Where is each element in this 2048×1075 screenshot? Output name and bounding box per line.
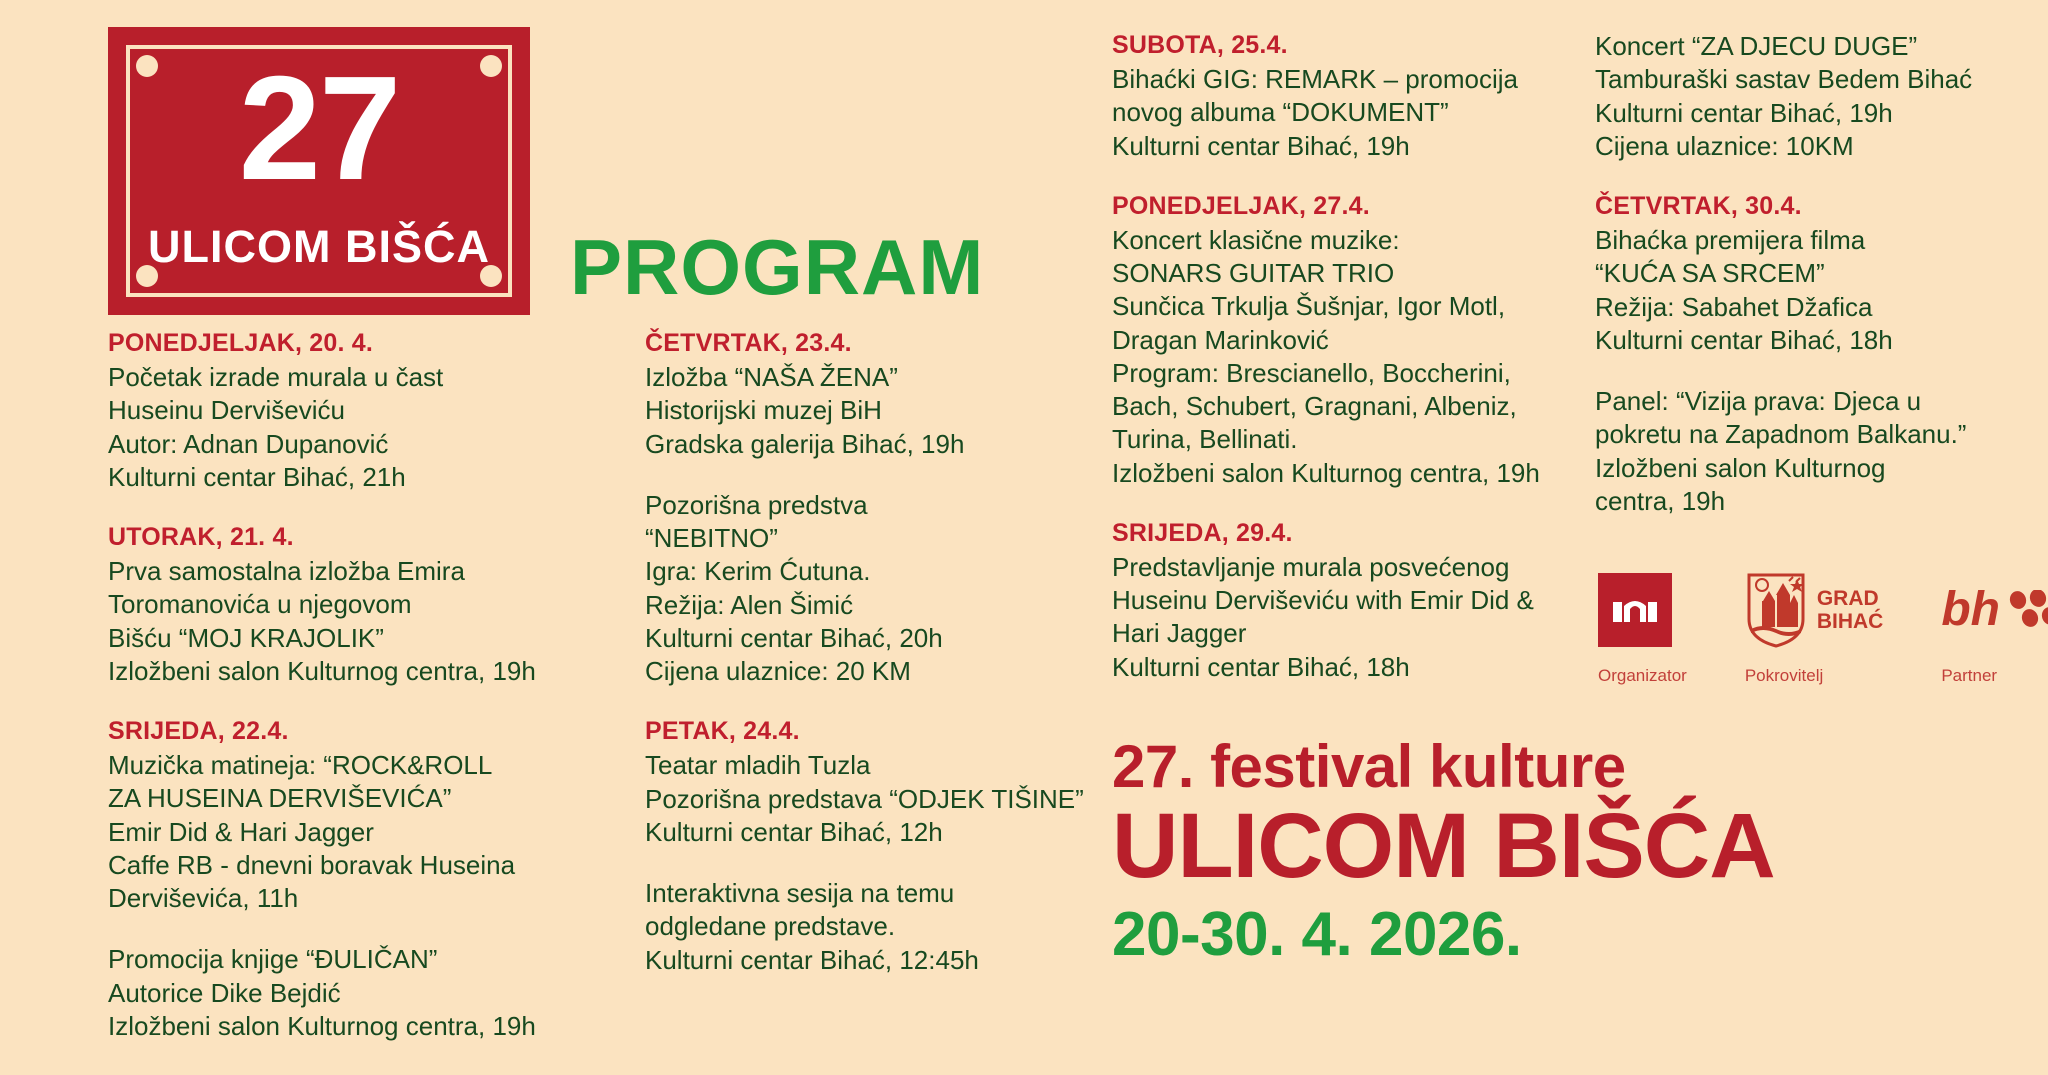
event-line: pokretu na Zapadnom Balkanu.” — [1595, 418, 2025, 451]
event-line: Izložbeni salon Kulturnog — [1595, 452, 2025, 485]
building-icon — [1613, 598, 1657, 622]
event-line: Režija: Alen Šimić — [645, 589, 1105, 622]
event-line: Panel: “Vizija prava: Djeca u — [1595, 385, 2025, 418]
logo-caption-pokrovitelj: Pokrovitelj — [1745, 666, 1823, 686]
program-event: SUBOTA, 25.4.Bihaćki GIG: REMARK – promo… — [1112, 30, 1562, 163]
event-line: Huseinu Derviševiću with Emir Did & — [1112, 584, 1562, 617]
event-line: Pozorišna predstva — [645, 489, 1105, 522]
event-line: Izložba “NAŠA ŽENA” — [645, 361, 1105, 394]
event-line: Autor: Adnan Dupanović — [108, 428, 578, 461]
event-line: Prva samostalna izložba Emira — [108, 555, 578, 588]
event-line: novog albuma “DOKUMENT” — [1112, 96, 1562, 129]
event-line: Muzička matineja: “ROCK&ROLL — [108, 749, 578, 782]
kulturni-centar-icon — [1598, 568, 1672, 652]
festival-title-line1: 27. festival kulture — [1112, 735, 1775, 798]
program-event: ČETVRTAK, 23.4.Izložba “NAŠA ŽENA”Histor… — [645, 328, 1105, 461]
event-line: Toromanovića u njegovom — [108, 588, 578, 621]
event-line: Igra: Kerim Ćutuna. — [645, 555, 1105, 588]
event-line: Turina, Bellinati. — [1112, 423, 1562, 456]
event-line: Kulturni centar Bihać, 20h — [645, 622, 1105, 655]
event-date: SRIJEDA, 22.4. — [108, 716, 578, 746]
event-line: Cijena ulaznice: 20 KM — [645, 655, 1105, 688]
event-date: UTORAK, 21. 4. — [108, 522, 578, 552]
event-line: Izložbeni salon Kulturnog centra, 19h — [1112, 457, 1562, 490]
event-line: Izložbeni salon Kulturnog centra, 19h — [108, 1010, 578, 1043]
event-date: ČETVRTAK, 30.4. — [1595, 191, 2025, 221]
event-line: Kulturni centar Bihać, 19h — [1112, 130, 1562, 163]
event-line: Derviševića, 11h — [108, 882, 578, 915]
program-column-2: ČETVRTAK, 23.4.Izložba “NAŠA ŽENA”Histor… — [645, 328, 1105, 977]
event-line: Kulturni centar Bihać, 12h — [645, 816, 1105, 849]
plaque-number: 27 — [108, 55, 530, 203]
festival-title-line2: ULICOM BIŠĆA — [1112, 798, 1775, 895]
event-line: Kulturni centar Bihać, 18h — [1595, 324, 2025, 357]
program-event: Koncert “ZA DJECU DUGE”Tamburaški sastav… — [1595, 30, 2025, 163]
event-line: Početak izrade murala u čast — [108, 361, 578, 394]
bh-wordmark: bh — [1941, 586, 2000, 634]
event-line: Program: Brescianello, Boccherini, — [1112, 357, 1562, 390]
event-line: Bišću “MOJ KRAJOLIK” — [108, 622, 578, 655]
event-line: Koncert “ZA DJECU DUGE” — [1595, 30, 2025, 63]
event-line: Kulturni centar Bihać, 12:45h — [645, 944, 1105, 977]
event-line: Bihaćki GIG: REMARK – promocija — [1112, 63, 1562, 96]
event-line: SONARS GUITAR TRIO — [1112, 257, 1562, 290]
grad-bihac-icon: GRAD BIHAĆ — [1745, 568, 1884, 652]
logo-grad-bihac: GRAD BIHAĆ Pokrovitelj — [1745, 568, 1884, 686]
festival-poster: 27 ULICOM BIŠĆA PROGRAM PONEDJELJAK, 20.… — [0, 0, 2048, 1075]
bh-dots-icon — [2008, 590, 2048, 630]
logo-bh-telecom: bh Partner — [1941, 568, 2048, 686]
event-line: Kulturni centar Bihać, 19h — [1595, 97, 2025, 130]
event-line: Sunčica Trkulja Šušnjar, Igor Motl, — [1112, 290, 1562, 323]
sponsor-logos: Organizator — [1598, 568, 2048, 686]
program-column-1: PONEDJELJAK, 20. 4.Početak izrade murala… — [108, 328, 578, 1043]
event-line: Izložbeni salon Kulturnog centra, 19h — [108, 655, 578, 688]
event-line: “KUĆA SA SRCEM” — [1595, 257, 2025, 290]
event-line: Hari Jagger — [1112, 617, 1562, 650]
event-line: centra, 19h — [1595, 485, 2025, 518]
program-event: UTORAK, 21. 4.Prva samostalna izložba Em… — [108, 522, 578, 688]
program-event: Interaktivna sesija na temuodgledane pre… — [645, 877, 1105, 977]
event-line: Autorice Dike Bejdić — [108, 977, 578, 1010]
program-heading: PROGRAM — [570, 228, 984, 306]
program-event: Promocija knjige “ĐULIČAN”Autorice Dike … — [108, 943, 578, 1043]
event-line: Kulturni centar Bihać, 18h — [1112, 651, 1562, 684]
event-line: Tamburaški sastav Bedem Bihać — [1595, 63, 2025, 96]
event-line: Pozorišna predstava “ODJEK TIŠINE” — [645, 783, 1105, 816]
event-line: Interaktivna sesija na temu — [645, 877, 1105, 910]
event-date: SUBOTA, 25.4. — [1112, 30, 1562, 60]
logo-kulturni-centar-bihac: Organizator — [1598, 568, 1687, 686]
program-event: SRIJEDA, 29.4.Predstavljanje murala posv… — [1112, 518, 1562, 684]
event-line: ZA HUSEINA DERVIŠEVIĆA” — [108, 782, 578, 815]
program-event: ČETVRTAK, 30.4.Bihaćka premijera filma“K… — [1595, 191, 2025, 357]
event-line: Predstavljanje murala posvećenog — [1112, 551, 1562, 584]
event-line: Emir Did & Hari Jagger — [108, 816, 578, 849]
program-event: PONEDJELJAK, 27.4.Koncert klasične muzik… — [1112, 191, 1562, 490]
program-event: SRIJEDA, 22.4.Muzička matineja: “ROCK&RO… — [108, 716, 578, 915]
program-column-4: Koncert “ZA DJECU DUGE”Tamburaški sastav… — [1595, 30, 2025, 518]
logo-caption-organizator: Organizator — [1598, 666, 1687, 686]
logo-caption-partner: Partner — [1941, 666, 1997, 686]
event-date: SRIJEDA, 29.4. — [1112, 518, 1562, 548]
grad-bihac-label: GRAD BIHAĆ — [1817, 587, 1884, 633]
event-line: Teatar mladih Tuzla — [645, 749, 1105, 782]
plaque-subtitle: ULICOM BIŠĆA — [108, 224, 530, 269]
festival-plaque-logo: 27 ULICOM BIŠĆA — [108, 27, 530, 315]
event-line: Caffe RB - dnevni boravak Huseina — [108, 849, 578, 882]
event-line: Gradska galerija Bihać, 19h — [645, 428, 1105, 461]
festival-dates: 20-30. 4. 2026. — [1112, 901, 1775, 969]
festival-title-block: 27. festival kulture ULICOM BIŠĆA 20-30.… — [1112, 735, 1775, 969]
event-date: PETAK, 24.4. — [645, 716, 1105, 746]
bh-telecom-icon: bh — [1941, 568, 2048, 652]
program-event: Pozorišna predstva“NEBITNO”Igra: Kerim Ć… — [645, 489, 1105, 689]
event-date: PONEDJELJAK, 27.4. — [1112, 191, 1562, 221]
program-event: PONEDJELJAK, 20. 4.Početak izrade murala… — [108, 328, 578, 494]
program-event: Panel: “Vizija prava: Djeca upokretu na … — [1595, 385, 2025, 518]
event-line: odgledane predstave. — [645, 910, 1105, 943]
event-line: Cijena ulaznice: 10KM — [1595, 130, 2025, 163]
event-date: ČETVRTAK, 23.4. — [645, 328, 1105, 358]
event-line: Huseinu Derviševiću — [108, 394, 578, 427]
event-line: Režija: Sabahet Džafica — [1595, 291, 2025, 324]
event-line: Bihaćka premijera filma — [1595, 224, 2025, 257]
coat-of-arms-icon — [1745, 571, 1807, 649]
event-line: Bach, Schubert, Gragnani, Albeniz, — [1112, 390, 1562, 423]
event-line: Dragan Marinković — [1112, 324, 1562, 357]
event-line: Promocija knjige “ĐULIČAN” — [108, 943, 578, 976]
event-line: Kulturni centar Bihać, 21h — [108, 461, 578, 494]
event-line: Historijski muzej BiH — [645, 394, 1105, 427]
event-date: PONEDJELJAK, 20. 4. — [108, 328, 578, 358]
event-line: “NEBITNO” — [645, 522, 1105, 555]
program-column-3: SUBOTA, 25.4.Bihaćki GIG: REMARK – promo… — [1112, 30, 1562, 684]
program-event: PETAK, 24.4.Teatar mladih TuzlaPozorišna… — [645, 716, 1105, 849]
event-line: Koncert klasične muzike: — [1112, 224, 1562, 257]
